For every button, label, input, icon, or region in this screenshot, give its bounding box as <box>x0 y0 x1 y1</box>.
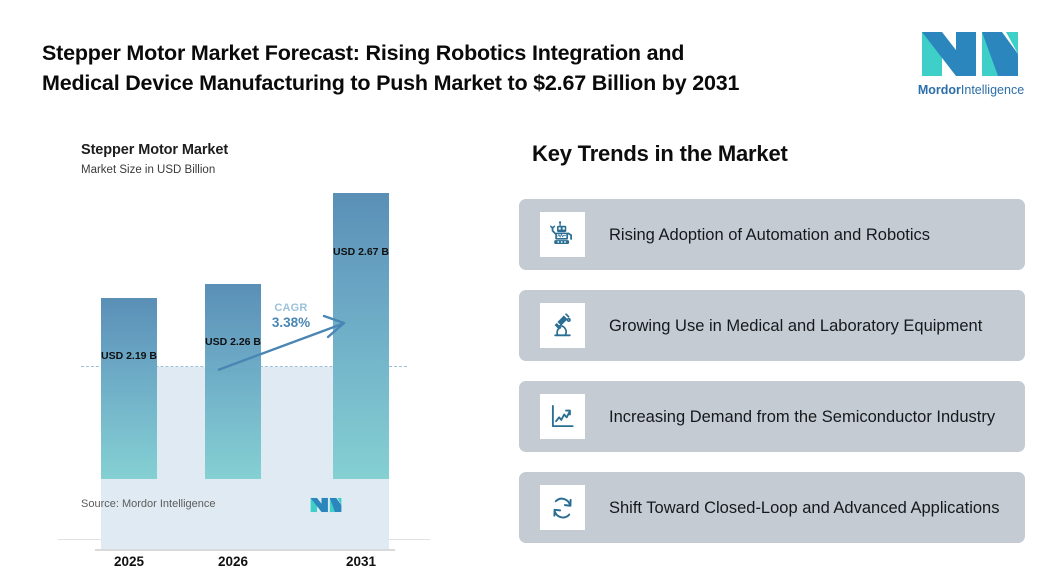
page-title: Stepper Motor Market Forecast: Rising Ro… <box>42 38 882 98</box>
robot-icon <box>540 212 585 257</box>
refresh-cycle-icon <box>540 485 585 530</box>
x-axis-label-2026: 2026 <box>195 554 271 569</box>
brand-name-bold: Mordor <box>918 83 961 97</box>
line-chart-up-icon <box>540 394 585 439</box>
trend-label: Growing Use in Medical and Laboratory Eq… <box>609 290 1013 361</box>
page-title-line-2: Medical Device Manufacturing to Push Mar… <box>42 68 882 98</box>
cagr-value: 3.38% <box>256 315 326 330</box>
chart-subtitle: Market Size in USD Billion <box>81 164 215 176</box>
brand-name-light: Intelligence <box>961 83 1024 97</box>
mordor-m-logo-icon <box>920 28 1020 80</box>
trend-card-medical-laboratory[interactable]: Growing Use in Medical and Laboratory Eq… <box>519 290 1025 361</box>
mordor-m-logo-icon <box>310 496 342 514</box>
trend-card-closed-loop[interactable]: Shift Toward Closed-Loop and Advanced Ap… <box>519 472 1025 543</box>
key-trends-list: Rising Adoption of Automation and Roboti… <box>519 199 1025 563</box>
chart-title: Stepper Motor Market <box>81 142 228 158</box>
page-title-line-1: Stepper Motor Market Forecast: Rising Ro… <box>42 38 882 68</box>
trend-card-semiconductor-demand[interactable]: Increasing Demand from the Semiconductor… <box>519 381 1025 452</box>
key-trends-heading: Key Trends in the Market <box>532 141 788 167</box>
bar-chart-plot: USD 2.19 B USD 2.26 B USD 2.67 B CAGR 3.… <box>81 198 407 481</box>
bar-value-label-2025: USD 2.19 B <box>87 350 171 362</box>
brand-logo: MordorIntelligence <box>912 28 1030 104</box>
trend-label: Increasing Demand from the Semiconductor… <box>609 381 1013 452</box>
cagr-annotation: CAGR 3.38% <box>256 302 326 330</box>
trend-label: Rising Adoption of Automation and Roboti… <box>609 199 1013 270</box>
x-axis-label-2025: 2025 <box>91 554 167 569</box>
bar-value-label-2031: USD 2.67 B <box>319 246 403 258</box>
trend-label: Shift Toward Closed-Loop and Advanced Ap… <box>609 472 1013 543</box>
chart-baseline-axis <box>95 549 395 551</box>
chart-panel: Stepper Motor Market Market Size in USD … <box>58 128 430 540</box>
bar-2025[interactable] <box>101 298 157 479</box>
trend-card-automation-robotics[interactable]: Rising Adoption of Automation and Roboti… <box>519 199 1025 270</box>
cagr-label: CAGR <box>256 302 326 314</box>
microscope-icon <box>540 303 585 348</box>
chart-source-label: Source: Mordor Intelligence <box>81 498 216 510</box>
brand-wordmark: MordorIntelligence <box>912 83 1030 97</box>
x-axis-label-2031: 2031 <box>323 554 399 569</box>
page-header: Stepper Motor Market Forecast: Rising Ro… <box>0 0 1058 118</box>
